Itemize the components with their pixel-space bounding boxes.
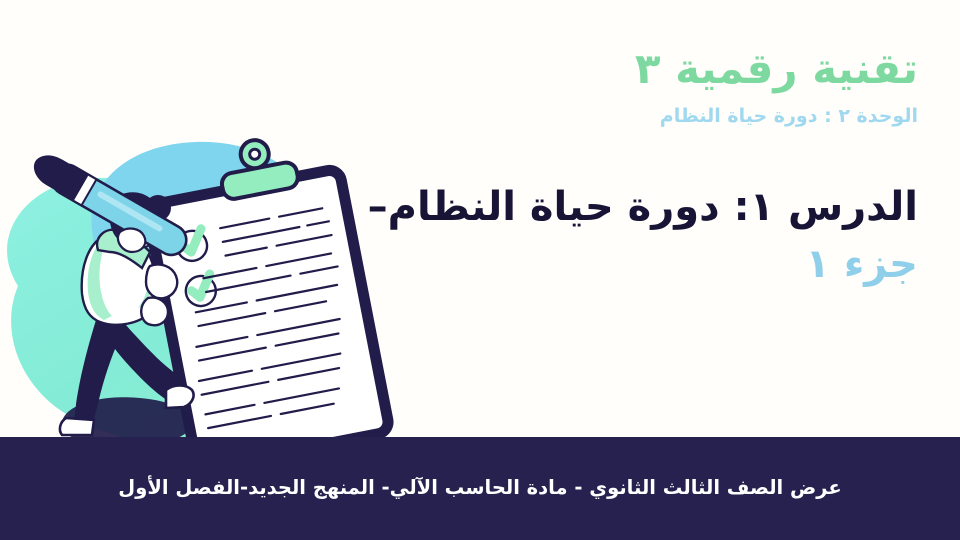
lesson-heading: الدرس ١: دورة حياة النظام– جزء ١ — [360, 127, 918, 293]
footer-bar: عرض الصف الثالث الثانوي - مادة الحاسب ال… — [0, 437, 960, 540]
person-shoe-front — [166, 386, 194, 409]
unit-subtitle: الوحدة ٢ : دورة حياة النظام — [360, 94, 918, 128]
course-title: تقنية رقمية ٣ — [360, 0, 918, 94]
slide-root: تقنية رقمية ٣ الوحدة ٢ : دورة حياة النظا… — [0, 0, 960, 540]
text-column: تقنية رقمية ٣ الوحدة ٢ : دورة حياة النظا… — [360, 0, 960, 437]
lesson-part-accent: جزء ١ — [805, 241, 918, 287]
footer-text: عرض الصف الثالث الثانوي - مادة الحاسب ال… — [94, 475, 865, 501]
person-shoe-back — [60, 418, 94, 435]
person-hand-front — [146, 264, 177, 298]
person-hand-grip — [118, 229, 145, 252]
lesson-heading-main: الدرس ١: دورة حياة النظام– — [368, 184, 918, 230]
person-hand-lower — [141, 298, 168, 326]
